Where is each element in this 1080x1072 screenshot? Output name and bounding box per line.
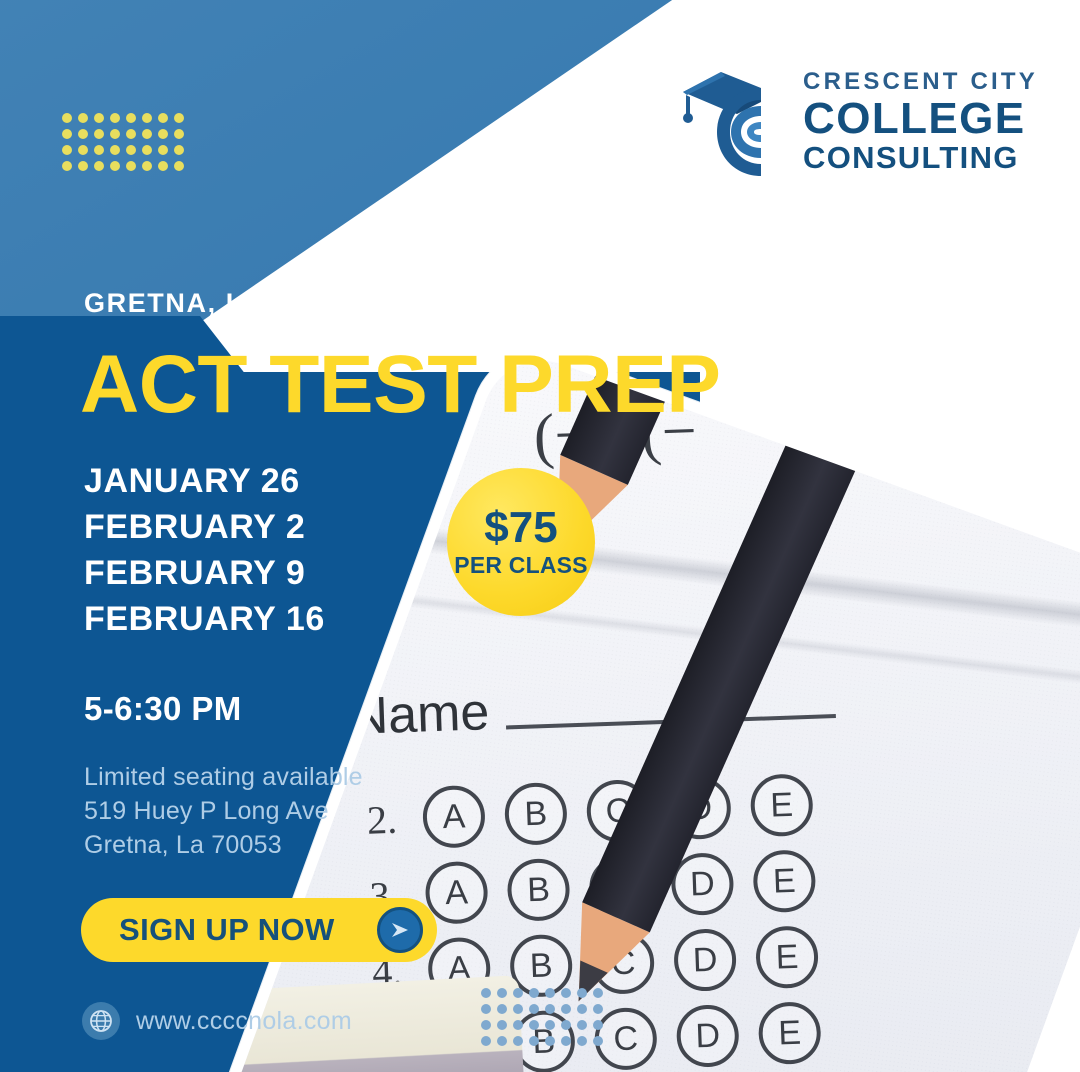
dot: [561, 1036, 571, 1046]
dot: [529, 1020, 539, 1030]
dot: [158, 145, 168, 155]
dot: [158, 129, 168, 139]
globe-icon: [82, 1002, 120, 1040]
dot: [545, 1004, 555, 1014]
session-date-list: JANUARY 26FEBRUARY 2FEBRUARY 9FEBRUARY 1…: [84, 458, 325, 642]
dot: [62, 145, 72, 155]
dot: [513, 1036, 523, 1046]
dot: [545, 1020, 555, 1030]
dot: [62, 161, 72, 171]
dot: [110, 129, 120, 139]
dot: [126, 145, 136, 155]
dot: [561, 1020, 571, 1030]
logo-line-2: COLLEGE: [803, 97, 1038, 141]
dot: [561, 1004, 571, 1014]
sign-up-button[interactable]: SIGN UP NOW: [81, 898, 437, 962]
dot: [577, 1004, 587, 1014]
dot: [174, 129, 184, 139]
venue-details: Limited seating available519 Huey P Long…: [84, 760, 363, 862]
dot: [174, 145, 184, 155]
dot: [174, 113, 184, 123]
dot: [545, 1036, 555, 1046]
dot: [158, 113, 168, 123]
dot: [529, 1036, 539, 1046]
website-url: www.ccccnola.com: [136, 1007, 352, 1036]
blue-dot-grid: [481, 988, 603, 1046]
dot: [142, 113, 152, 123]
brand-logo-text: CRESCENT CITY COLLEGE CONSULTING: [803, 70, 1038, 173]
dot: [513, 1004, 523, 1014]
dot: [62, 129, 72, 139]
dot: [126, 113, 136, 123]
dot: [94, 129, 104, 139]
brand-logo[interactable]: CRESCENT CITY COLLEGE CONSULTING: [677, 62, 1038, 180]
dot: [78, 129, 88, 139]
dot: [529, 988, 539, 998]
graduation-cap-arcs-icon: [677, 62, 789, 180]
venue-detail-line: Gretna, La 70053: [84, 828, 363, 862]
dot: [481, 1020, 491, 1030]
session-time: 5-6:30 PM: [84, 690, 242, 728]
poster-canvas: (−4)(− = −1 Name 2.ABCDE3.ABCDE4.ABCDE5.…: [0, 0, 1080, 1072]
dot: [110, 161, 120, 171]
dot: [110, 145, 120, 155]
session-date: FEBRUARY 16: [84, 596, 325, 642]
arrow-right-icon: [377, 907, 423, 953]
dot: [577, 988, 587, 998]
dot: [62, 113, 72, 123]
dot: [545, 988, 555, 998]
session-date: JANUARY 26: [84, 458, 325, 504]
dot: [497, 1004, 507, 1014]
logo-line-3: CONSULTING: [803, 142, 1038, 173]
dot: [142, 129, 152, 139]
website-link[interactable]: www.ccccnola.com: [82, 1002, 352, 1040]
sign-up-label: SIGN UP NOW: [119, 912, 335, 948]
dot: [593, 1020, 603, 1030]
yellow-dot-grid: [62, 113, 184, 171]
dot: [577, 1020, 587, 1030]
dot: [481, 988, 491, 998]
logo-line-1: CRESCENT CITY: [803, 70, 1038, 94]
dot: [497, 988, 507, 998]
venue-detail-line: Limited seating available: [84, 760, 363, 794]
price-badge: $75 PER CLASS: [447, 468, 595, 616]
session-date: FEBRUARY 9: [84, 550, 325, 596]
price-unit: PER CLASS: [454, 552, 587, 579]
dot: [481, 1004, 491, 1014]
dot: [142, 145, 152, 155]
dot: [78, 161, 88, 171]
dot: [78, 113, 88, 123]
dot: [497, 1036, 507, 1046]
dot: [481, 1036, 491, 1046]
dot: [593, 988, 603, 998]
dot: [513, 1020, 523, 1030]
dot: [142, 161, 152, 171]
price-amount: $75: [484, 506, 557, 550]
dot: [94, 161, 104, 171]
dot: [593, 1036, 603, 1046]
dot: [577, 1036, 587, 1046]
dot: [529, 1004, 539, 1014]
dot: [94, 113, 104, 123]
poster-content: CRESCENT CITY COLLEGE CONSULTING GRETNA,…: [0, 0, 1080, 1072]
page-title: ACT TEST PREP: [80, 338, 720, 432]
dot: [593, 1004, 603, 1014]
dot: [78, 145, 88, 155]
dot: [94, 145, 104, 155]
dot: [126, 161, 136, 171]
dot: [513, 988, 523, 998]
dot: [561, 988, 571, 998]
dot: [174, 161, 184, 171]
dot: [497, 1020, 507, 1030]
venue-detail-line: 519 Huey P Long Ave: [84, 794, 363, 828]
dot: [126, 129, 136, 139]
dot: [158, 161, 168, 171]
session-date: FEBRUARY 2: [84, 504, 325, 550]
city-label: GRETNA, LA: [84, 288, 265, 319]
dot: [110, 113, 120, 123]
